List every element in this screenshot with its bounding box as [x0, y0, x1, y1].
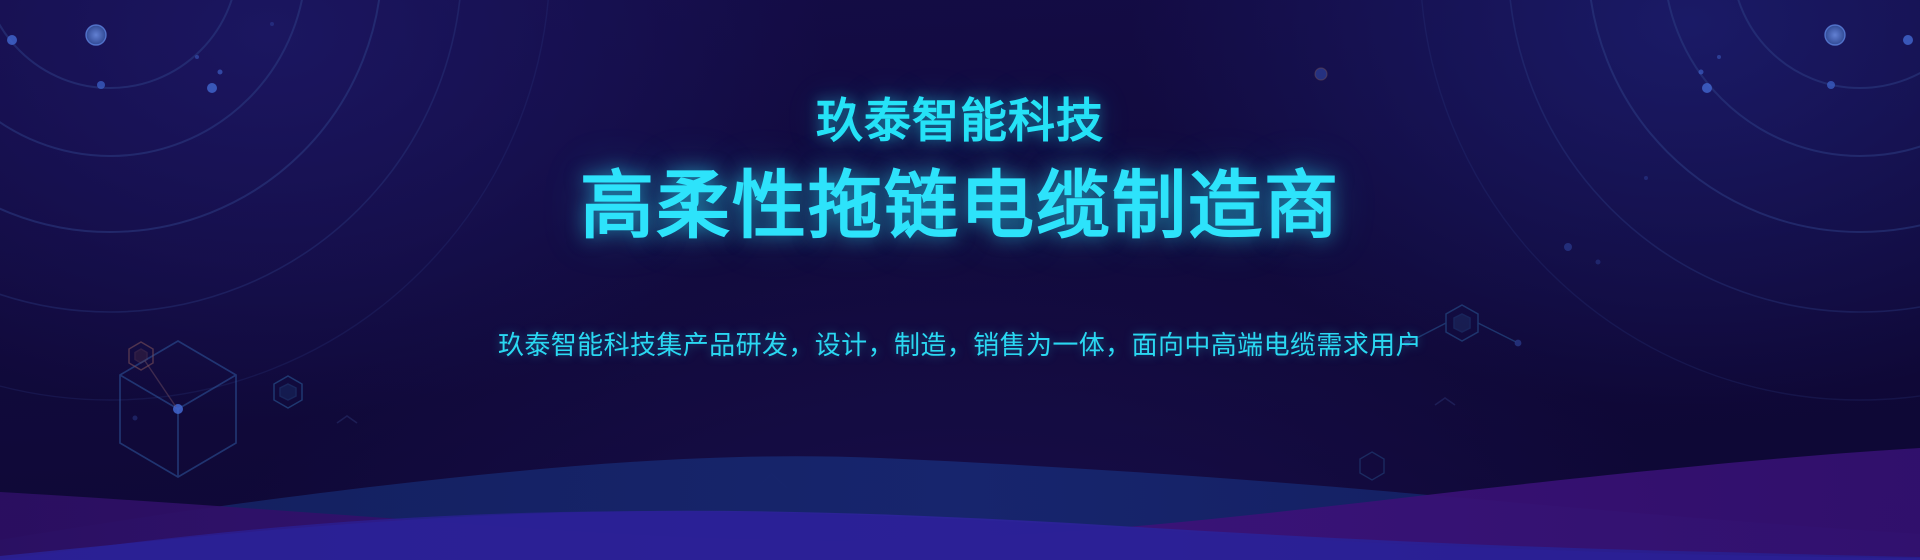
hero-banner: 玖泰智能科技 高柔性拖链电缆制造商 玖泰智能科技集产品研发，设计，制造，销售为一…	[0, 0, 1920, 560]
banner-eyebrow: 玖泰智能科技	[816, 96, 1104, 147]
banner-content: 玖泰智能科技 高柔性拖链电缆制造商 玖泰智能科技集产品研发，设计，制造，销售为一…	[0, 0, 1920, 560]
banner-subtitle: 玖泰智能科技集产品研发，设计，制造，销售为一体，面向中高端电缆需求用户	[498, 329, 1422, 363]
banner-headline: 高柔性拖链电缆制造商	[580, 167, 1340, 245]
